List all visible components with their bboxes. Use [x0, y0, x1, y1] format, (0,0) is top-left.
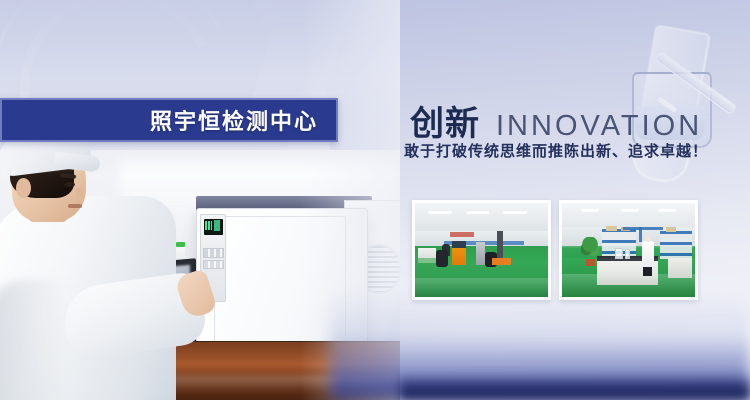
technician-eye [64, 182, 75, 187]
lab2-glassware-2 [625, 249, 631, 259]
lab2-ceiling [562, 203, 695, 227]
promo-banner: 照宇恒检测中心 创新 INNOVATION 敢于打破传统思维而推陈出新、追求卓越… [0, 0, 750, 400]
lab2-pipe-horizontal [623, 227, 663, 230]
lab1-red-banner [450, 232, 474, 237]
technician-nose [76, 188, 85, 200]
lab2-ceiling-light-1 [581, 209, 600, 213]
lab1-bench-left-green [418, 258, 437, 264]
led-readout-block [214, 220, 220, 231]
lab2-technician-coat [642, 241, 654, 269]
lab-photo-1-inner [415, 203, 548, 297]
led-bar-graph-icon [205, 221, 212, 230]
lab-photo-1 [412, 200, 551, 300]
lab1-ceiling-light-2 [466, 211, 490, 215]
headline-subtitle: 敢于打破传统思维而推陈出新、追求卓越！ [404, 140, 708, 161]
lab1-ceiling [415, 203, 548, 231]
lab-technician [0, 130, 204, 400]
lab2-box-1 [606, 226, 617, 232]
lab2-technician-legs [643, 267, 652, 276]
company-title-text: 照宇恒检测中心 [150, 104, 336, 136]
lab2-cabinet [668, 258, 692, 279]
lab2-ceiling-light-3 [658, 209, 677, 213]
lab2-technician-head [644, 236, 651, 242]
lab2-box-3 [666, 227, 677, 232]
lab1-chair-1 [436, 250, 448, 267]
photo-strip [412, 200, 698, 300]
lab2-plant [581, 237, 600, 261]
lab-photo-2 [559, 200, 698, 300]
instrument-button-row-2 [203, 260, 224, 269]
lab1-ceiling-light-3 [503, 211, 527, 215]
lab1-grey-machine [476, 242, 485, 265]
bottom-dark-edge [400, 374, 750, 400]
lab2-shelf-right [660, 231, 692, 259]
coat-shadow [0, 280, 66, 400]
lab2-pipe-vertical [639, 227, 642, 242]
headline: 创新 INNOVATION [410, 96, 702, 145]
lab2-ceiling-light-2 [621, 209, 640, 213]
technician-ear [16, 178, 31, 198]
instrument-button-row-1 [203, 248, 224, 258]
technician-lip [68, 204, 82, 208]
headline-chinese: 创新 [410, 96, 480, 145]
lab-photo-2-inner [562, 203, 695, 297]
lab1-orange-machine-head [452, 241, 465, 249]
headline-english: INNOVATION [496, 110, 702, 143]
lab2-glassware-1 [615, 248, 622, 258]
lab1-tester-base [492, 258, 511, 266]
lab2-plant-pot [586, 259, 595, 266]
company-title-banner: 照宇恒检测中心 [0, 98, 338, 142]
lab1-ceiling-light-1 [428, 211, 452, 215]
